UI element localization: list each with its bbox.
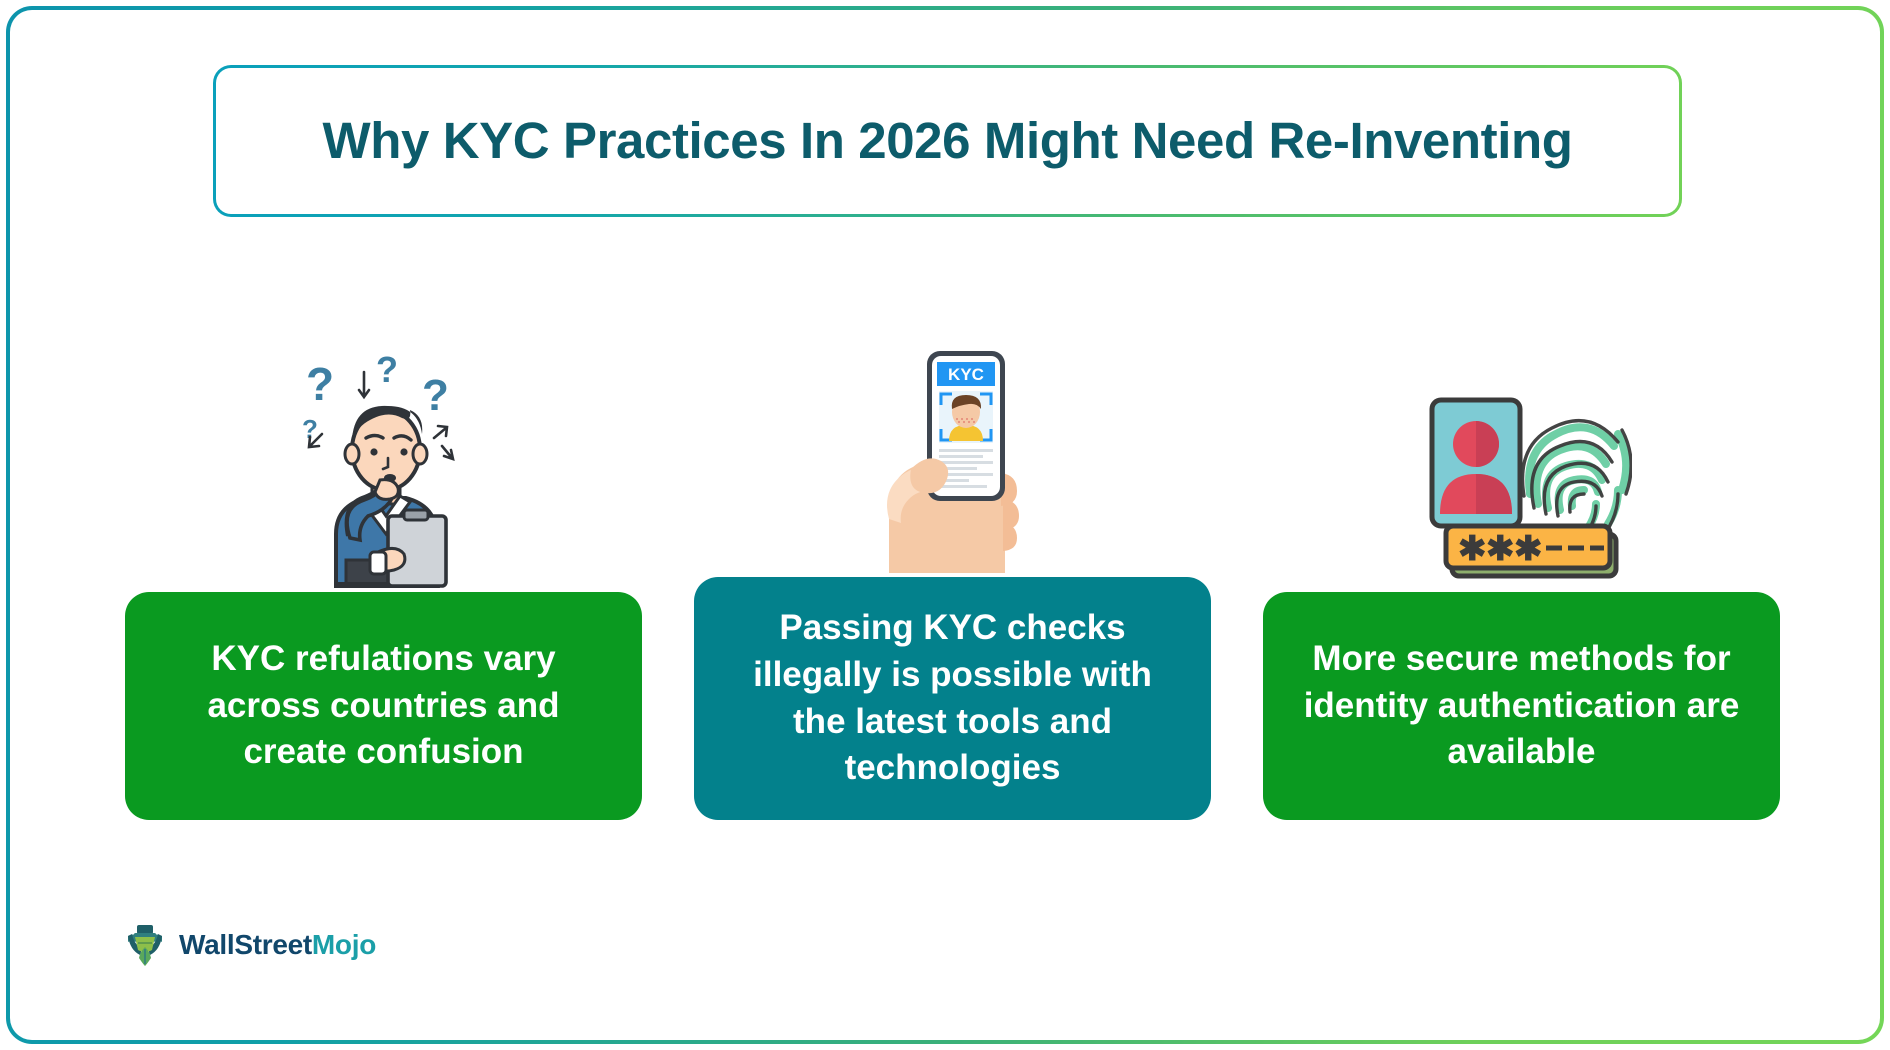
column-2: KYC bbox=[694, 260, 1211, 820]
brand-name: WallStreetMojo bbox=[179, 929, 376, 961]
brand-logo[interactable]: WallStreetMojo bbox=[122, 922, 376, 968]
svg-text:✱: ✱ bbox=[1514, 530, 1543, 568]
brand-name-part2: Mojo bbox=[312, 929, 376, 960]
hand-holding-phone-kyc-face-scan-icon: KYC bbox=[853, 323, 1053, 573]
svg-text:?: ? bbox=[376, 349, 398, 390]
svg-text:?: ? bbox=[422, 371, 449, 420]
card-3[interactable]: More secure methods for identity authent… bbox=[1263, 592, 1780, 820]
title-box: Why KYC Practices In 2026 Might Need Re-… bbox=[213, 65, 1682, 217]
card-1[interactable]: KYC refulations vary across countries an… bbox=[125, 592, 642, 820]
phone-kyc-label: KYC bbox=[948, 365, 984, 384]
wallstreetmojo-bull-logo-icon bbox=[122, 922, 168, 968]
illustration-3: ✱ ✱ ✱ bbox=[1263, 338, 1780, 588]
confused-businessman-with-question-marks-icon: ? ? ? ? bbox=[284, 338, 484, 588]
column-3: ✱ ✱ ✱ More secure methods for identity a… bbox=[1263, 260, 1780, 820]
svg-text:✱: ✱ bbox=[1458, 530, 1487, 568]
page-title: Why KYC Practices In 2026 Might Need Re-… bbox=[322, 107, 1572, 175]
illustration-2: KYC bbox=[694, 323, 1211, 573]
svg-text:✱: ✱ bbox=[1486, 530, 1515, 568]
svg-text:?: ? bbox=[306, 358, 334, 410]
illustration-1: ? ? ? ? bbox=[125, 338, 642, 588]
title-box-inner: Why KYC Practices In 2026 Might Need Re-… bbox=[216, 68, 1679, 214]
page-frame: Why KYC Practices In 2026 Might Need Re-… bbox=[6, 6, 1884, 1044]
card-2[interactable]: Passing KYC checks illegally is possible… bbox=[694, 577, 1211, 820]
column-1: ? ? ? ? bbox=[125, 260, 642, 820]
brand-name-part1: WallStreet bbox=[179, 929, 312, 960]
content-columns: ? ? ? ? bbox=[125, 260, 1780, 820]
page-canvas: Why KYC Practices In 2026 Might Need Re-… bbox=[10, 10, 1880, 1040]
id-card-fingerprint-password-icon: ✱ ✱ ✱ bbox=[1412, 338, 1632, 588]
